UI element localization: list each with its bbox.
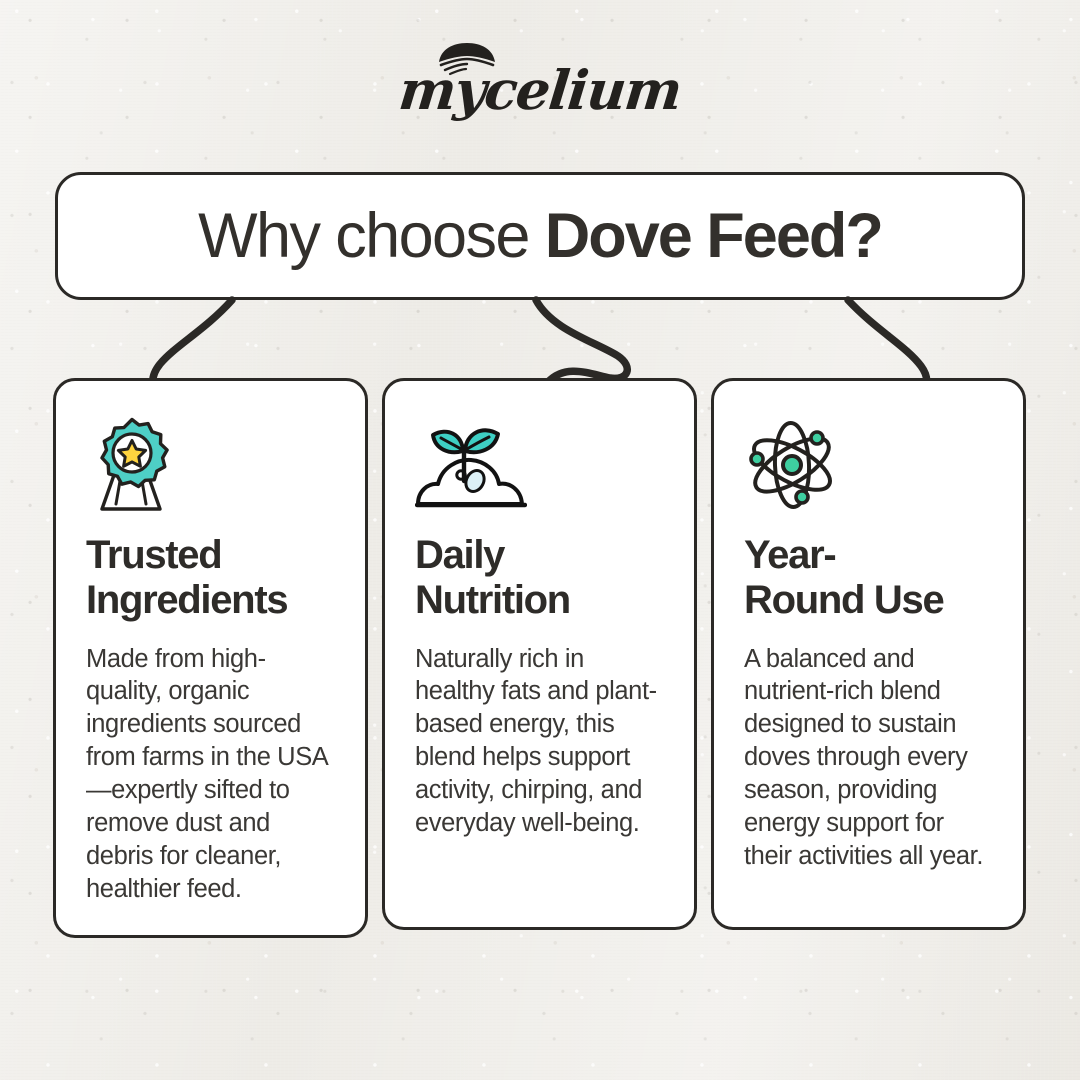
card-title: Trusted Ingredients [86, 533, 335, 623]
award-badge-icon [86, 417, 335, 513]
page-title: Why choose Dove Feed? [198, 200, 882, 272]
headline-light-text: Why choose [198, 201, 545, 271]
infographic-page: mycelium Why choose Dove Feed? [0, 0, 1080, 1080]
headline-bold-text: Dove Feed? [545, 201, 882, 271]
feature-card-daily-nutrition: Daily Nutrition Naturally rich in health… [382, 378, 697, 930]
brand-name: mycelium [397, 63, 684, 117]
card-body-text: A balanced and nutrient-rich blend desig… [744, 643, 993, 873]
feature-card-trusted-ingredients: Trusted Ingredients Made from high-quali… [53, 378, 368, 938]
sprout-seedling-icon [415, 417, 664, 513]
headline-card: Why choose Dove Feed? [55, 172, 1025, 300]
feature-card-year-round-use: Year- Round Use A balanced and nutrient-… [711, 378, 1026, 930]
card-title: Year- Round Use [744, 533, 993, 623]
brand-lockup: mycelium [0, 36, 1080, 128]
feature-card-row: Trusted Ingredients Made from high-quali… [53, 378, 1027, 938]
atom-icon [744, 417, 993, 513]
card-body-text: Naturally rich in healthy fats and plant… [415, 643, 664, 840]
card-title: Daily Nutrition [415, 533, 664, 623]
card-body-text: Made from high-quality, organic ingredie… [86, 643, 335, 906]
